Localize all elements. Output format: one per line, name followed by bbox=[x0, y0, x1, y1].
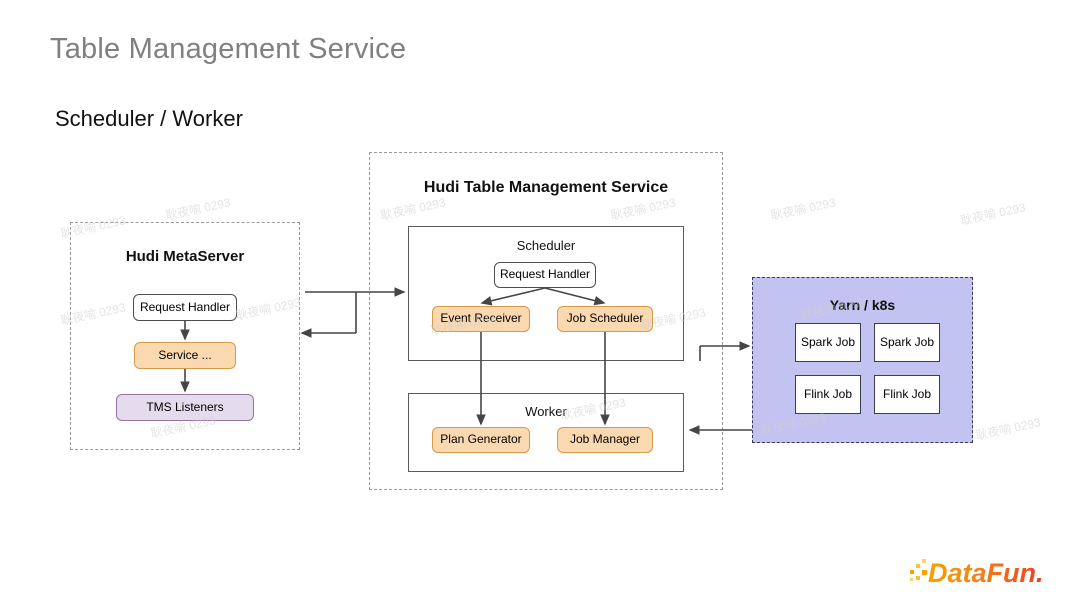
architecture-diagram: Hudi MetaServer Request Handler Service … bbox=[0, 0, 1080, 608]
node-request-handler-metaserver[interactable]: Request Handler bbox=[133, 294, 237, 321]
datafun-logo: DataFun. bbox=[908, 552, 1058, 590]
node-spark-job-1[interactable]: Spark Job bbox=[795, 323, 861, 362]
node-flink-job-2[interactable]: Flink Job bbox=[874, 375, 940, 414]
group-title-hudi-tms: Hudi Table Management Service bbox=[370, 179, 722, 197]
group-title-yarn-k8s: Yarn / k8s bbox=[753, 297, 972, 313]
group-title-hudi-metaserver: Hudi MetaServer bbox=[71, 248, 299, 265]
node-plan-generator[interactable]: Plan Generator bbox=[432, 427, 530, 453]
datafun-logo-text: DataFun. bbox=[928, 558, 1044, 588]
node-request-handler-scheduler[interactable]: Request Handler bbox=[494, 262, 596, 288]
node-job-scheduler[interactable]: Job Scheduler bbox=[557, 306, 653, 332]
node-event-receiver[interactable]: Event Receiver bbox=[432, 306, 530, 332]
node-flink-job-1[interactable]: Flink Job bbox=[795, 375, 861, 414]
node-job-manager[interactable]: Job Manager bbox=[557, 427, 653, 453]
node-service[interactable]: Service ... bbox=[134, 342, 236, 369]
subgroup-title-worker: Worker bbox=[409, 404, 683, 419]
subgroup-title-scheduler: Scheduler bbox=[409, 238, 683, 253]
datafun-dots-icon bbox=[910, 559, 927, 581]
subgroup-scheduler: Scheduler bbox=[408, 226, 684, 361]
node-tms-listeners[interactable]: TMS Listeners bbox=[116, 394, 254, 421]
node-spark-job-2[interactable]: Spark Job bbox=[874, 323, 940, 362]
